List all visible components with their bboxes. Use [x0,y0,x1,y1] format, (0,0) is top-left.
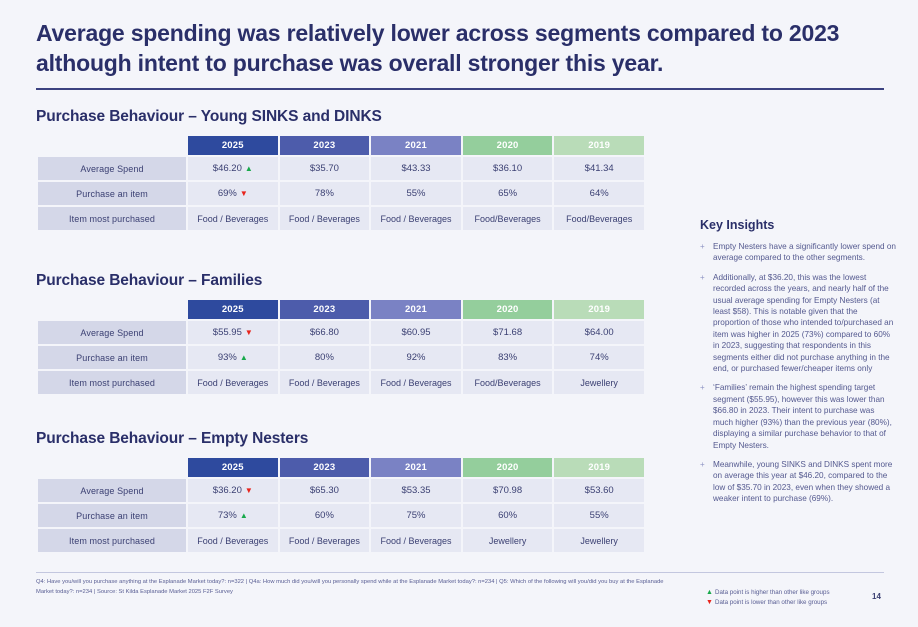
section-1: Purchase Behaviour – Young SINKS and DIN… [36,108,646,232]
data-cell: Food / Beverages [188,529,278,552]
section-title: Purchase Behaviour – Empty Nesters [36,430,646,448]
cell-value: $71.68 [493,327,522,338]
cell-value: Food/Beverages [475,378,541,388]
section-title: Purchase Behaviour – Young SINKS and DIN… [36,108,646,126]
cell-value: $65.30 [310,485,339,496]
data-cell: Jewellery [554,529,644,552]
data-cell: $60.95 [371,321,461,344]
cell-value: 83% [498,352,517,363]
triangle-down-icon: ▼ [240,189,248,198]
data-cell: Food / Beverages [371,207,461,230]
row-label: Average Spend [38,321,186,344]
behaviour-table: 20252023202120202019Average Spend$36.20▼… [36,456,646,554]
cell-value: 75% [406,510,425,521]
insight-bullet: +Additionally, at $36.20, this was the l… [700,272,896,375]
cell-value: 92% [406,352,425,363]
behaviour-table: 20252023202120202019Average Spend$55.95▼… [36,298,646,396]
data-cell: Food / Beverages [280,207,370,230]
slide: Average spending was relatively lower ac… [0,0,918,627]
data-cell: $36.20▼ [188,479,278,502]
cell-value: $53.35 [401,485,430,496]
section-3: Purchase Behaviour – Empty Nesters202520… [36,430,646,554]
title-container: Average spending was relatively lower ac… [36,18,884,78]
column-header-2019[interactable]: 2019 [554,136,644,155]
cell-value: $43.33 [401,163,430,174]
insight-text: Additionally, at $36.20, this was the lo… [713,272,896,375]
data-cell: $46.20▲ [188,157,278,180]
data-cell: Food / Beverages [371,529,461,552]
cell-value: Food / Beverages [289,536,360,546]
column-header-2020[interactable]: 2020 [463,136,553,155]
row-label: Purchase an item [38,346,186,369]
triangle-up-icon: ▲ [240,511,248,520]
cell-value: Food / Beverages [380,536,451,546]
column-header-2025[interactable]: 2025 [188,136,278,155]
column-header-2021[interactable]: 2021 [371,458,461,477]
cell-value: Food / Beverages [197,214,268,224]
section-title: Purchase Behaviour – Families [36,272,646,290]
section-2: Purchase Behaviour – Families20252023202… [36,272,646,396]
bullet-plus-icon: + [700,241,713,264]
triangle-up-icon: ▲ [245,164,253,173]
cell-value: 93% [218,352,237,363]
data-cell: $71.68 [463,321,553,344]
data-cell: $65.30 [280,479,370,502]
data-cell: $36.10 [463,157,553,180]
insight-bullet: +Meanwhile, young SINKS and DINKS spent … [700,459,896,505]
cell-value: 55% [590,510,609,521]
cell-value: Food/Beverages [475,214,541,224]
cell-value: Food / Beverages [197,378,268,388]
data-cell: $55.95▼ [188,321,278,344]
data-cell: 55% [554,504,644,527]
key-insights-heading: Key Insights [700,218,896,232]
cell-value: $46.20 [213,163,242,174]
bullet-plus-icon: + [700,459,713,505]
cell-value: 78% [315,188,334,199]
insight-text: ‘Families’ remain the highest spending t… [713,382,896,450]
column-header-2021[interactable]: 2021 [371,136,461,155]
row-label: Item most purchased [38,529,186,552]
data-cell: 78% [280,182,370,205]
cell-value: $64.00 [585,327,614,338]
cell-value: Food / Beverages [380,214,451,224]
page-number: 14 [872,592,881,601]
data-cell: Food / Beverages [371,371,461,394]
data-cell: Food / Beverages [188,371,278,394]
table-header-row: 20252023202120202019 [38,300,644,319]
cell-value: 60% [315,510,334,521]
cell-value: Jewellery [580,378,618,388]
table-corner-cell [38,458,186,477]
data-cell: 74% [554,346,644,369]
cell-value: 74% [590,352,609,363]
data-cell: Food / Beverages [188,207,278,230]
table-corner-cell [38,136,186,155]
cell-value: $55.95 [213,327,242,338]
column-header-2019[interactable]: 2019 [554,300,644,319]
data-cell: Food/Beverages [463,207,553,230]
bullet-plus-icon: + [700,272,713,375]
table-header-row: 20252023202120202019 [38,458,644,477]
cell-value: 69% [218,188,237,199]
data-cell: $53.35 [371,479,461,502]
column-header-2023[interactable]: 2023 [280,300,370,319]
row-label: Purchase an item [38,504,186,527]
data-cell: 83% [463,346,553,369]
cell-value: $41.34 [585,163,614,174]
cell-value: 80% [315,352,334,363]
data-cell: $64.00 [554,321,644,344]
cell-value: $70.98 [493,485,522,496]
legend-label-higher: Data point is higher than other like gro… [715,588,830,598]
triangle-up-icon: ▲ [240,353,248,362]
row-label: Purchase an item [38,182,186,205]
legend: ▲ Data point is higher than other like g… [706,588,886,607]
insight-bullet: +‘Families’ remain the highest spending … [700,382,896,450]
table-corner-cell [38,300,186,319]
column-header-2025[interactable]: 2025 [188,300,278,319]
key-insights-list: +Empty Nesters have a significantly lowe… [700,241,896,505]
cell-value: Jewellery [489,536,527,546]
column-header-2023[interactable]: 2023 [280,458,370,477]
data-cell: Jewellery [463,529,553,552]
cell-value: 64% [590,188,609,199]
cell-value: Food / Beverages [289,214,360,224]
data-cell: 80% [280,346,370,369]
data-cell: 55% [371,182,461,205]
cell-value: Food / Beverages [380,378,451,388]
column-header-2021[interactable]: 2021 [371,300,461,319]
legend-row-lower: ▼ Data point is lower than other like gr… [706,598,886,608]
cell-value: Food/Beverages [566,214,632,224]
data-cell: 65% [463,182,553,205]
data-cell: 64% [554,182,644,205]
table-row: Average Spend$55.95▼$66.80$60.95$71.68$6… [38,321,644,344]
data-cell: 93%▲ [188,346,278,369]
cell-value: $35.70 [310,163,339,174]
data-cell: Food/Beverages [463,371,553,394]
data-cell: 60% [463,504,553,527]
table-row: Purchase an item73%▲60%75%60%55% [38,504,644,527]
behaviour-table: 20252023202120202019Average Spend$46.20▲… [36,134,646,232]
title-divider [36,88,884,90]
data-cell: 69%▼ [188,182,278,205]
legend-label-lower: Data point is lower than other like grou… [715,598,827,608]
column-header-2020[interactable]: 2020 [463,300,553,319]
key-insights-panel: Key Insights +Empty Nesters have a signi… [700,218,896,513]
data-cell: $41.34 [554,157,644,180]
triangle-down-icon: ▼ [706,598,715,608]
triangle-up-icon: ▲ [706,588,715,598]
insight-text: Empty Nesters have a significantly lower… [713,241,896,264]
data-cell: 92% [371,346,461,369]
data-cell: $35.70 [280,157,370,180]
cell-value: $36.10 [493,163,522,174]
table-row: Item most purchasedFood / BeveragesFood … [38,207,644,230]
cell-value: $36.20 [213,485,242,496]
insight-bullet: +Empty Nesters have a significantly lowe… [700,241,896,264]
data-cell: $66.80 [280,321,370,344]
cell-value: Jewellery [580,536,618,546]
data-cell: Food/Beverages [554,207,644,230]
data-cell: $43.33 [371,157,461,180]
table-row: Purchase an item69%▼78%55%65%64% [38,182,644,205]
data-cell: 75% [371,504,461,527]
row-label: Average Spend [38,157,186,180]
cell-value: 55% [406,188,425,199]
data-cell: Jewellery [554,371,644,394]
table-row: Average Spend$46.20▲$35.70$43.33$36.10$4… [38,157,644,180]
cell-value: $66.80 [310,327,339,338]
table-row: Average Spend$36.20▼$65.30$53.35$70.98$5… [38,479,644,502]
table-row: Item most purchasedFood / BeveragesFood … [38,371,644,394]
cell-value: $53.60 [585,485,614,496]
cell-value: Food / Beverages [289,378,360,388]
legend-row-higher: ▲ Data point is higher than other like g… [706,588,886,598]
cell-value: 73% [218,510,237,521]
triangle-down-icon: ▼ [245,328,253,337]
data-cell: $53.60 [554,479,644,502]
footer-divider [36,572,884,573]
cell-value: 65% [498,188,517,199]
column-header-2023[interactable]: 2023 [280,136,370,155]
insight-text: Meanwhile, young SINKS and DINKS spent m… [713,459,896,505]
data-cell: 60% [280,504,370,527]
data-cell: Food / Beverages [280,371,370,394]
footnote-text: Q4: Have you/will you purchase anything … [36,578,681,597]
table-header-row: 20252023202120202019 [38,136,644,155]
cell-value: 60% [498,510,517,521]
triangle-down-icon: ▼ [245,486,253,495]
column-header-2020[interactable]: 2020 [463,458,553,477]
bullet-plus-icon: + [700,382,713,450]
row-label: Item most purchased [38,207,186,230]
table-row: Item most purchasedFood / BeveragesFood … [38,529,644,552]
page-title: Average spending was relatively lower ac… [36,18,884,78]
data-cell: Food / Beverages [280,529,370,552]
row-label: Item most purchased [38,371,186,394]
table-row: Purchase an item93%▲80%92%83%74% [38,346,644,369]
data-cell: 73%▲ [188,504,278,527]
data-cell: $70.98 [463,479,553,502]
cell-value: Food / Beverages [197,536,268,546]
cell-value: $60.95 [401,327,430,338]
row-label: Average Spend [38,479,186,502]
column-header-2019[interactable]: 2019 [554,458,644,477]
column-header-2025[interactable]: 2025 [188,458,278,477]
